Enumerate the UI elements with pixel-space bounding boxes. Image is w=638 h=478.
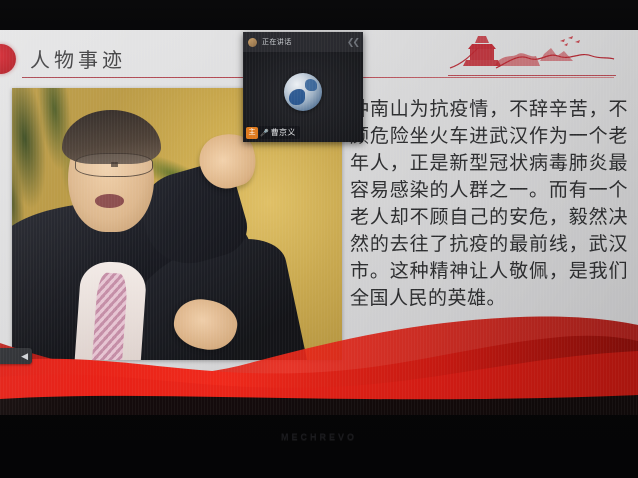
monitor-screen: 人物事迹 bbox=[0, 30, 638, 415]
slide-title: 人物事迹 bbox=[30, 44, 126, 73]
title-decoration-circle bbox=[0, 44, 16, 74]
slide-body-text: 钟南山为抗疫情，不辞辛苦，不顾危险坐火车进武汉作为一个老年人，正是新型冠状病毒肺… bbox=[350, 96, 628, 312]
meeting-status-label: 正在讲话 bbox=[262, 37, 292, 47]
chevron-left-icon: ◀ bbox=[21, 352, 28, 361]
red-ribbon-decoration bbox=[0, 315, 638, 415]
collapse-chevron-icon[interactable]: ❮❮ bbox=[347, 37, 358, 48]
host-badge-icon: 主 bbox=[246, 127, 258, 139]
globe-avatar bbox=[284, 73, 322, 111]
speaker-name-tag: 主 🎤 曹京义 bbox=[246, 126, 300, 139]
speaker-avatar-icon bbox=[248, 38, 257, 47]
video-meeting-window[interactable]: 正在讲话 ❮❮ 主 🎤 曹京义 bbox=[243, 32, 363, 142]
red-mountain-pavilion-icon bbox=[448, 34, 616, 78]
slideshow-toolbar-chip[interactable]: ◀ bbox=[0, 348, 32, 364]
monitor-brand-label: MECHREVO bbox=[0, 432, 638, 442]
meeting-title-bar[interactable]: 正在讲话 ❮❮ bbox=[243, 32, 363, 52]
monitor-frame: 人物事迹 bbox=[0, 0, 638, 478]
microphone-icon: 🎤 bbox=[260, 129, 269, 137]
meeting-video-stage[interactable]: 主 🎤 曹京义 bbox=[243, 52, 363, 142]
speaker-name: 曹京义 bbox=[271, 127, 296, 138]
